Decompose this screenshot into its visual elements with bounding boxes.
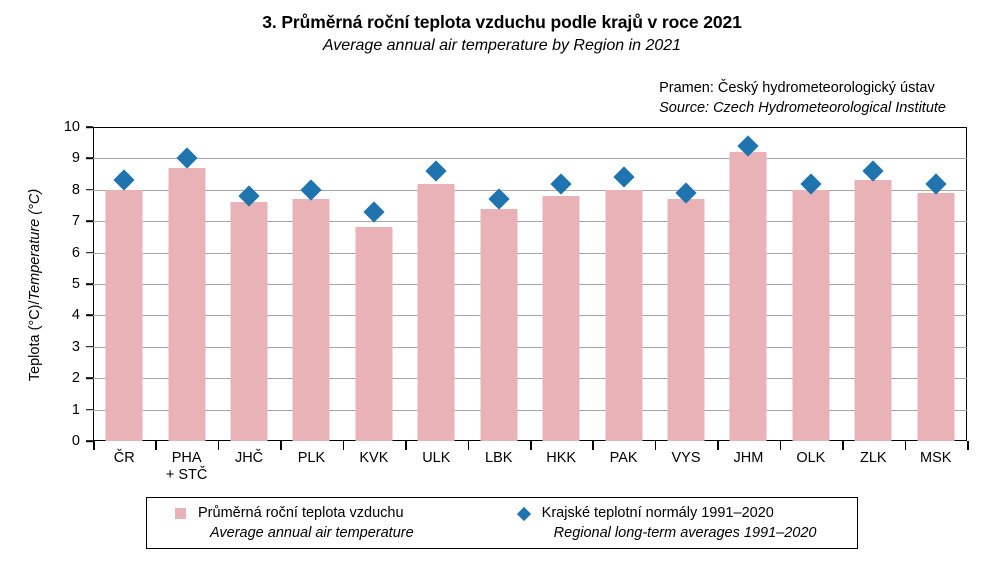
category-group	[343, 127, 405, 441]
x-axis-ticks	[93, 441, 967, 450]
category-group	[468, 127, 530, 441]
chart-page: 3. Průměrná roční teplota vzduchu podle …	[0, 0, 1004, 561]
x-axis-tick-label-line2: + STČ	[155, 467, 217, 484]
category-group	[530, 127, 592, 441]
x-axis-tick-label: HKK	[530, 450, 592, 484]
normal-marker	[925, 173, 946, 194]
x-axis-tick-label: JHČ	[218, 450, 280, 484]
y-axis-tick-label: 6	[72, 245, 80, 260]
bar	[106, 190, 143, 441]
y-axis-tick-mark	[86, 283, 93, 285]
y-axis-tick-mark	[86, 377, 93, 379]
source-note-en: Source: Czech Hydrometeorological Instit…	[659, 98, 946, 118]
x-axis-tick-mark	[530, 441, 532, 450]
bar	[792, 190, 829, 441]
legend-item-normals-label-en: Regional long-term averages 1991–2020	[542, 523, 817, 543]
normal-marker	[863, 160, 884, 181]
source-note-cz: Pramen: Český hydrometeorologický ústav	[659, 78, 946, 98]
x-axis-tick-label-line1: ČR	[114, 450, 135, 466]
bar	[168, 168, 205, 441]
x-axis-tick-mark	[655, 441, 657, 450]
bar	[668, 199, 705, 441]
y-axis-tick-mark	[86, 252, 93, 254]
legend-diamond-swatch-icon	[517, 507, 531, 521]
legend-item-normals-label-cz: Krajské teplotní normály 1991–2020	[542, 503, 817, 523]
y-axis-tick-mark	[86, 158, 93, 160]
x-axis-tick-label-line1: KVK	[359, 450, 388, 466]
y-axis-tick-labels: 109876543210	[0, 127, 93, 441]
x-axis-tick-mark	[592, 441, 594, 450]
legend-item-normals: Krajské teplotní normály 1991–2020 Regio…	[518, 503, 817, 543]
x-axis-tick-label-line1: PHA	[172, 450, 202, 466]
y-axis-tick-mark	[86, 440, 93, 442]
x-axis-tick-label-line1: PLK	[298, 450, 325, 466]
bar	[855, 180, 892, 441]
chart-title-block: 3. Průměrná roční teplota vzduchu podle …	[0, 10, 1004, 57]
x-axis-tick-mark	[780, 441, 782, 450]
normal-marker	[114, 170, 135, 191]
x-axis-tick-label-line1: LBK	[485, 450, 512, 466]
normal-marker	[488, 189, 509, 210]
x-axis-tick-label-line1: ZLK	[860, 450, 887, 466]
x-axis-tick-label: MSK	[904, 450, 966, 484]
x-axis-tick-label-line1: JHM	[734, 450, 764, 466]
y-axis-tick-mark	[86, 315, 93, 317]
x-axis-tick-label: PAK	[592, 450, 654, 484]
bar	[730, 152, 767, 441]
category-group	[280, 127, 342, 441]
category-group	[93, 127, 155, 441]
x-axis-tick-mark	[218, 441, 220, 450]
x-axis-tick-label-line1: VYS	[672, 450, 701, 466]
y-axis-tick-mark	[86, 220, 93, 222]
x-axis-tick-mark	[155, 441, 157, 450]
x-axis-tick-mark	[280, 441, 282, 450]
data-series-container	[93, 127, 967, 441]
y-axis-tick-label: 10	[64, 120, 80, 135]
category-group	[717, 127, 779, 441]
y-axis-tick-label: 1	[72, 402, 80, 417]
x-axis-tick-label-line1: MSK	[920, 450, 951, 466]
bar	[480, 209, 517, 441]
x-axis-tick-label: OLK	[780, 450, 842, 484]
y-axis-tick-mark	[86, 126, 93, 128]
x-axis-tick-mark	[967, 441, 969, 450]
legend-square-swatch-icon	[175, 508, 186, 519]
category-group	[655, 127, 717, 441]
x-axis-tick-mark	[343, 441, 345, 450]
x-axis-tick-label: LBK	[468, 450, 530, 484]
source-note: Pramen: Český hydrometeorologický ústav …	[659, 78, 946, 118]
bar	[917, 193, 954, 441]
y-axis-tick-label: 8	[72, 183, 80, 198]
x-axis-tick-mark	[717, 441, 719, 450]
y-axis-tick-mark	[86, 189, 93, 191]
x-axis-tick-label: VYS	[655, 450, 717, 484]
x-axis-tick-mark	[405, 441, 407, 450]
x-axis-tick-label: ČR	[93, 450, 155, 484]
normal-marker	[613, 167, 634, 188]
category-group	[780, 127, 842, 441]
x-axis-tick-label-line1: HKK	[546, 450, 576, 466]
normal-marker	[426, 160, 447, 181]
x-axis-tick-mark	[905, 441, 907, 450]
normal-marker	[176, 148, 197, 169]
category-group	[592, 127, 654, 441]
page-subtitle: Average annual air temperature by Region…	[0, 34, 1004, 57]
bar	[418, 184, 455, 441]
x-axis-tick-label: PLK	[280, 450, 342, 484]
x-axis-tick-label-line1: ULK	[422, 450, 450, 466]
x-axis-tick-label-line1: PAK	[610, 450, 638, 466]
bar	[605, 190, 642, 441]
y-axis-tick-label: 2	[72, 371, 80, 386]
chart-legend: Průměrná roční teplota vzduchu Average a…	[146, 497, 858, 549]
legend-item-bar-label-en: Average annual air temperature	[198, 523, 414, 543]
y-axis-tick-label: 7	[72, 214, 80, 229]
x-axis-tick-label-line1: JHČ	[235, 450, 263, 466]
x-axis-tick-label: ULK	[405, 450, 467, 484]
legend-item-bar-label-cz: Průměrná roční teplota vzduchu	[198, 503, 414, 523]
x-axis-tick-label: PHA+ STČ	[155, 450, 217, 484]
normal-marker	[301, 179, 322, 200]
x-axis-tick-labels: ČRPHA+ STČJHČPLKKVKULKLBKHKKPAKVYSJHMOLK…	[93, 450, 967, 484]
y-axis-tick-label: 3	[72, 340, 80, 355]
bar	[543, 196, 580, 441]
legend-item-bar: Průměrná roční teplota vzduchu Average a…	[175, 503, 414, 543]
category-group	[155, 127, 217, 441]
x-axis-tick-label: KVK	[343, 450, 405, 484]
bar	[355, 227, 392, 441]
y-axis-tick-mark	[86, 409, 93, 411]
category-group	[842, 127, 904, 441]
y-axis-tick-label: 9	[72, 151, 80, 166]
page-title: 3. Průměrná roční teplota vzduchu podle …	[0, 10, 1004, 34]
x-axis-tick-mark	[842, 441, 844, 450]
x-axis-tick-mark	[93, 441, 95, 450]
y-axis-tick-label: 4	[72, 308, 80, 323]
y-axis-tick-mark	[86, 346, 93, 348]
y-axis-tick-label: 5	[72, 277, 80, 292]
category-group	[218, 127, 280, 441]
x-axis-tick-label: ZLK	[842, 450, 904, 484]
normal-marker	[363, 201, 384, 222]
bar	[293, 199, 330, 441]
category-group	[904, 127, 966, 441]
x-axis-tick-label: JHM	[717, 450, 779, 484]
normal-marker	[551, 173, 572, 194]
category-group	[405, 127, 467, 441]
x-axis-tick-label-line1: OLK	[796, 450, 825, 466]
y-axis-tick-label: 0	[72, 434, 80, 449]
x-axis-tick-mark	[468, 441, 470, 450]
bar	[231, 202, 268, 441]
plot-area	[93, 127, 967, 441]
